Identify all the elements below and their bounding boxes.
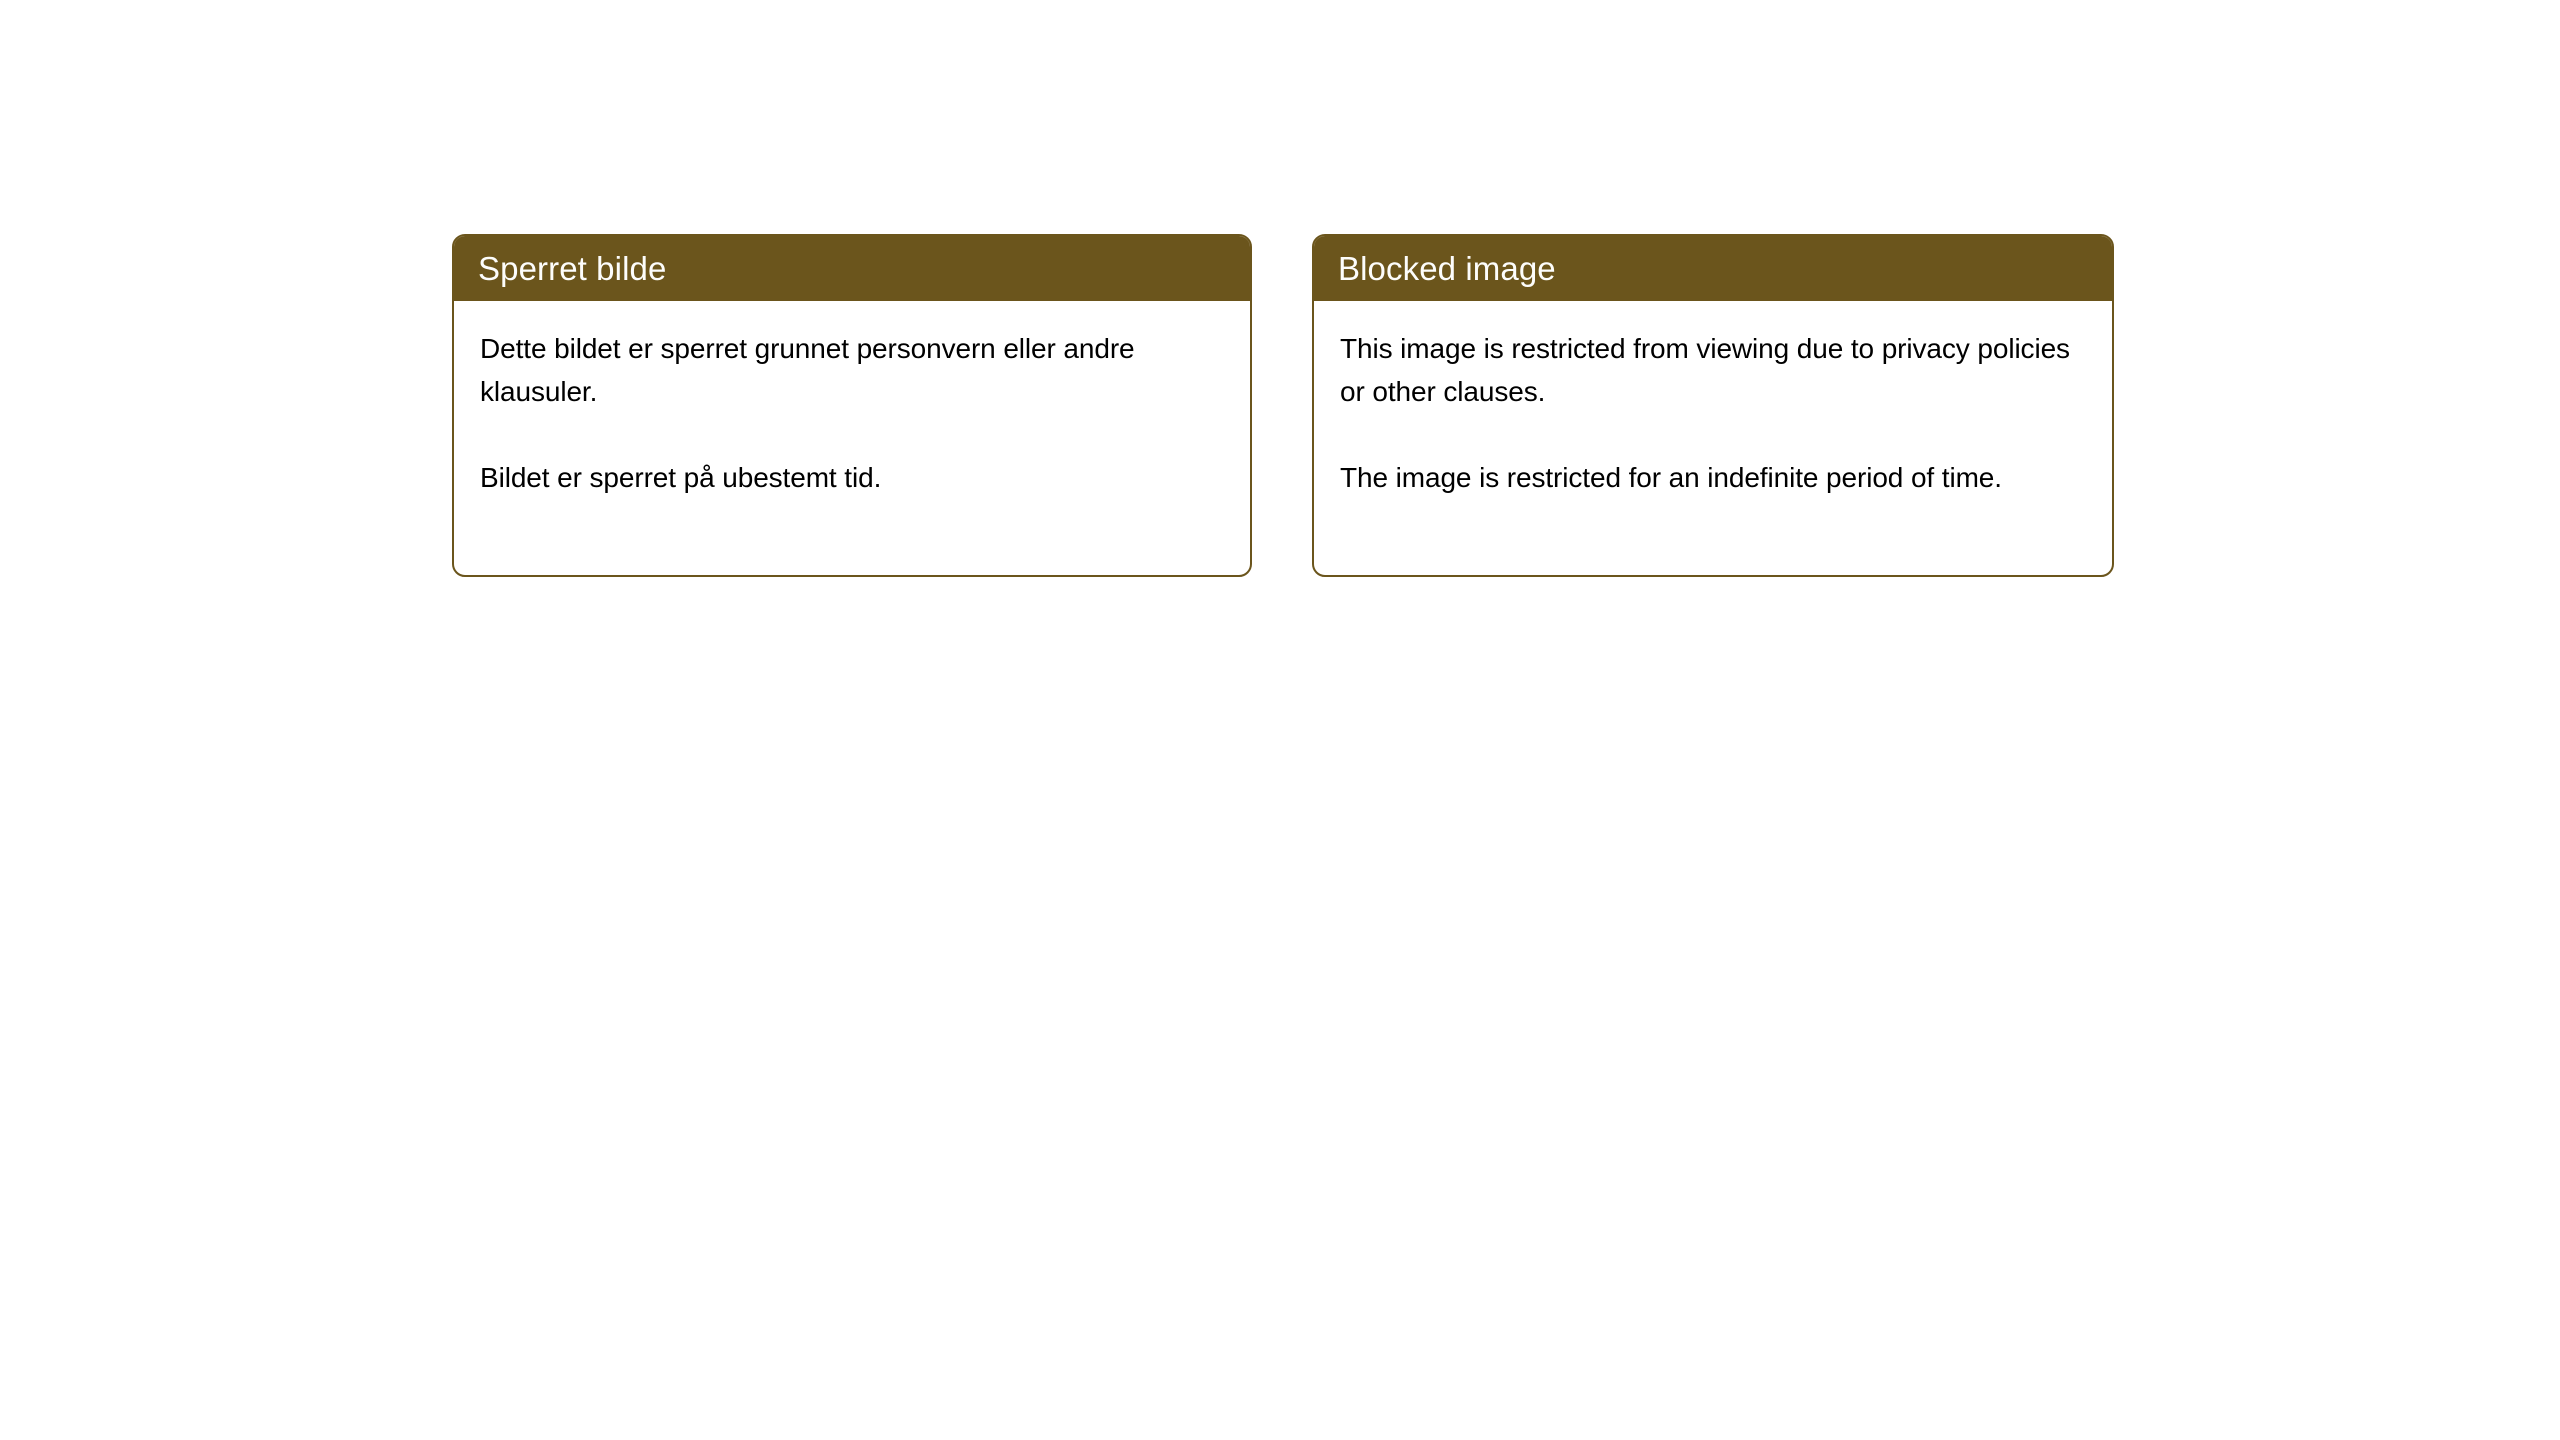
blocked-image-notice-card-norwegian: Sperret bilde Dette bildet er sperret gr… bbox=[452, 234, 1252, 577]
card-body-english: This image is restricted from viewing du… bbox=[1314, 301, 2112, 499]
card-paragraph-reason-english: This image is restricted from viewing du… bbox=[1340, 327, 2086, 413]
page-root: Sperret bilde Dette bildet er sperret gr… bbox=[0, 0, 2560, 1440]
card-title-english: Blocked image bbox=[1338, 252, 1556, 285]
card-header-norwegian: Sperret bilde bbox=[454, 236, 1250, 301]
card-paragraph-duration-norwegian: Bildet er sperret på ubestemt tid. bbox=[480, 456, 1224, 499]
card-title-norwegian: Sperret bilde bbox=[478, 252, 666, 285]
card-header-english: Blocked image bbox=[1314, 236, 2112, 301]
card-paragraph-duration-english: The image is restricted for an indefinit… bbox=[1340, 456, 2086, 499]
card-paragraph-reason-norwegian: Dette bildet er sperret grunnet personve… bbox=[480, 327, 1224, 413]
card-body-norwegian: Dette bildet er sperret grunnet personve… bbox=[454, 301, 1250, 499]
blocked-image-notice-card-english: Blocked image This image is restricted f… bbox=[1312, 234, 2114, 577]
